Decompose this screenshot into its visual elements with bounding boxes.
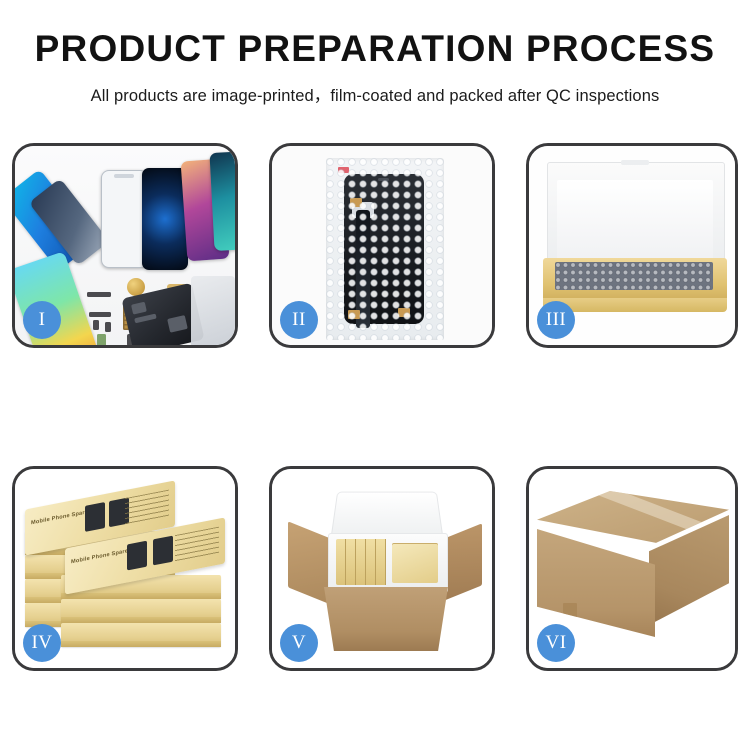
bubble-texture [326,158,444,340]
process-step-5: V [269,466,526,671]
process-step-4: Mobile Phone Spare Parts Mobile Phone Sp… [12,466,269,671]
phone-screen-teal [209,151,235,251]
step-panel-3: III [526,143,738,348]
step-panel-6: VI [526,466,738,671]
lid-tab [621,160,649,165]
process-step-1: I [12,143,269,348]
step-panel-2: II [269,143,495,348]
bubble-wrap-pouch [326,158,444,340]
step-badge-1: I [23,301,61,339]
open-shipping-carton [288,489,482,655]
packed-retail-boxes [336,539,438,585]
step-badge-3: III [537,301,575,339]
page-header: PRODUCT PREPARATION PROCESS All products… [0,0,750,106]
page-title: PRODUCT PREPARATION PROCESS [0,30,750,69]
sealed-shipping-carton [537,491,729,647]
step-panel-5: V [269,466,495,671]
carton-body [324,587,448,651]
process-step-2: II [269,143,526,348]
step-badge-5: V [280,624,318,662]
carton-front-face [537,529,655,637]
product-preparation-process-page: PRODUCT PREPARATION PROCESS All products… [0,0,750,750]
grey-bubble-wrap-contents [555,262,713,290]
phone-glass-panel [101,170,148,268]
process-step-3: III [526,143,738,348]
white-foam-sheet [557,180,713,262]
step-badge-2: II [280,301,318,339]
step-panel-1: I [12,143,238,348]
process-step-6: VI [526,466,738,671]
repair-tools [191,276,235,345]
step-panel-4: Mobile Phone Spare Parts Mobile Phone Sp… [12,466,238,671]
process-steps-grid: I [12,143,738,671]
step-badge-6: VI [537,624,575,662]
page-subtitle: All products are image-printed，film-coat… [0,82,750,106]
step-badge-4: IV [23,624,61,662]
carton-hand-hole-top [563,603,577,621]
open-kraft-box [541,162,729,320]
